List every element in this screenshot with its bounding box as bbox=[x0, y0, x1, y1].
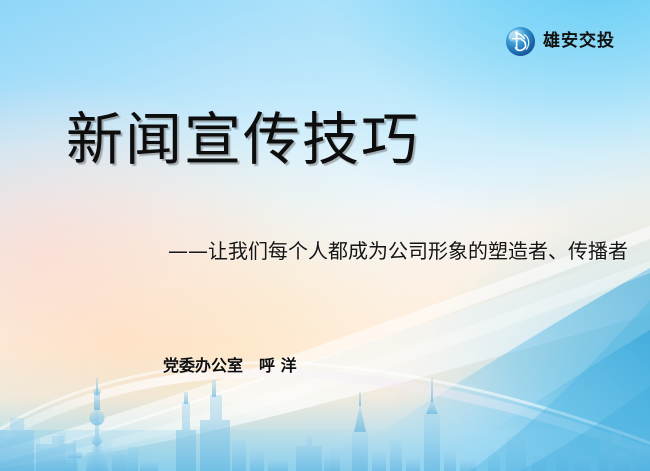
presentation-title-slide: 雄安交投 新闻宣传技巧 ——让我们每个人都成为公司形象的塑造者、传播者 党委办公… bbox=[0, 0, 650, 471]
globe-monogram-icon bbox=[505, 26, 536, 57]
brand-logo: 雄安交投 bbox=[505, 26, 615, 57]
presenter-credit: 党委办公室 呼 洋 bbox=[163, 356, 297, 375]
brand-wordmark: 雄安交投 bbox=[543, 33, 615, 50]
decorative-ribbons bbox=[0, 0, 650, 471]
slide-title: 新闻宣传技巧 bbox=[66, 112, 420, 169]
slide-subtitle: ——让我们每个人都成为公司形象的塑造者、传播者 bbox=[168, 239, 628, 263]
